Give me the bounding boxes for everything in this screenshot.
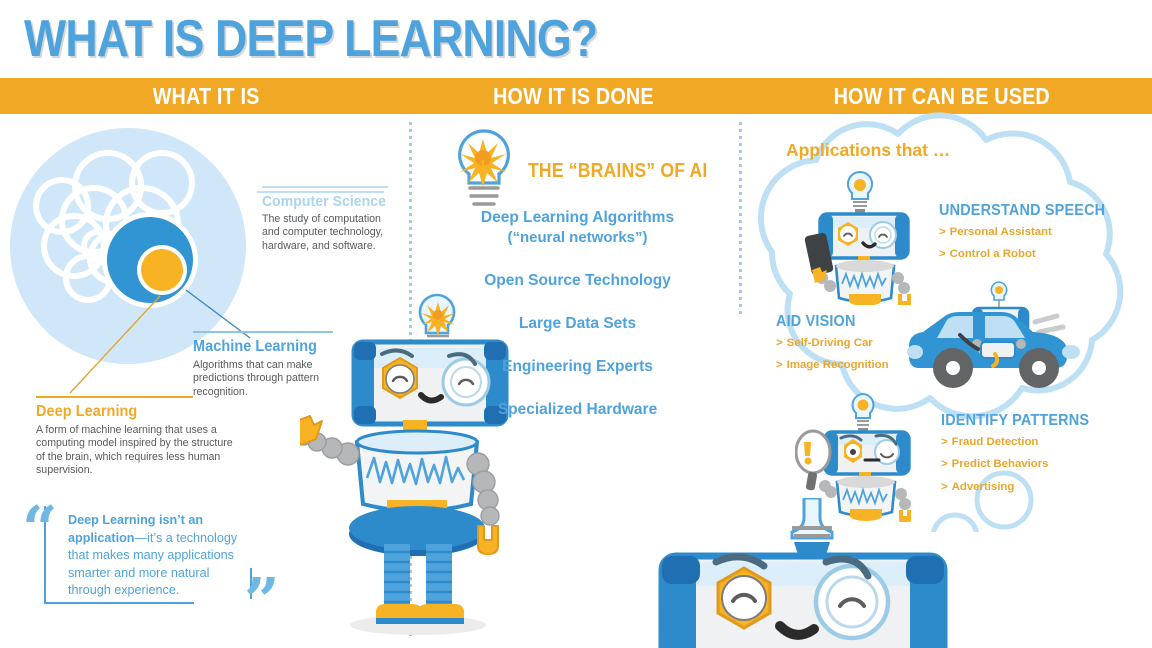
application-item: >Self-Driving Car (776, 338, 889, 349)
quote-frame-gap-top (46, 504, 252, 509)
robot-neck-bulb (792, 498, 832, 558)
callout-rule (262, 186, 388, 188)
application-item-label: Self-Driving Car (787, 337, 873, 349)
brains-list-item: Deep Learning Algorithms (“neural networ… (425, 208, 730, 248)
robot-left-arm (300, 416, 359, 465)
band-column-how-it-is-done: HOW IT IS DONE (408, 78, 738, 114)
application-group-identify-patterns: IDENTIFY PATTERNS >Fraud Detection >Pred… (941, 412, 1100, 504)
callout-body: A form of machine learning that uses a c… (36, 424, 236, 478)
band-column-how-it-can-be-used: HOW IT CAN BE USED (742, 78, 1142, 114)
band-column-label: HOW IT CAN BE USED (834, 78, 1050, 115)
application-item: >Image Recognition (776, 360, 889, 371)
application-item: >Control a Robot (939, 249, 1118, 260)
brains-list: Deep Learning Algorithms (“neural networ… (425, 208, 730, 443)
brains-item-sub: (“neural networks”) (425, 228, 730, 248)
application-group-aid-vision: AID VISION >Self-Driving Car >Image Reco… (776, 313, 889, 383)
bullet-arrow-icon: > (939, 226, 946, 238)
application-item-label: Fraud Detection (952, 436, 1039, 448)
application-group-title: AID VISION (776, 313, 881, 331)
bullet-arrow-icon: > (776, 359, 783, 371)
application-item-label: Advertising (952, 481, 1015, 493)
application-item-label: Personal Assistant (950, 226, 1052, 238)
brains-heading: THE “BRAINS” OF AI (528, 160, 708, 183)
bullet-arrow-icon: > (776, 337, 783, 349)
callout-body: The study of computation and computer te… (262, 213, 397, 253)
quote-text: Deep Learning isn’t an application—it’s … (68, 512, 254, 600)
application-group-title: IDENTIFY PATTERNS (941, 412, 1089, 430)
brains-list-item: Large Data Sets (425, 314, 730, 334)
robot-body (357, 431, 477, 511)
application-item-label: Control a Robot (950, 248, 1036, 260)
application-group-title: UNDERSTAND SPEECH (939, 202, 1105, 220)
band-column-label: HOW IT IS DONE (493, 78, 654, 115)
brains-lightbulb-icon (452, 128, 516, 210)
quote-open-mark: “ (22, 498, 58, 560)
callout-heading: Deep Learning (36, 403, 222, 421)
self-driving-car-illustration (905, 280, 1095, 390)
bottom-robot-head-illustration (644, 498, 974, 648)
application-item: >Fraud Detection (941, 437, 1100, 448)
callout-heading: Computer Science (262, 193, 388, 210)
robot-lightbulb-icon (853, 394, 874, 433)
infographic-canvas: WHAT IS DEEP LEARNING? WHAT IT IS HOW IT… (0, 0, 1152, 648)
brains-list-item: Engineering Experts (425, 357, 730, 377)
application-item: >Personal Assistant (939, 227, 1118, 238)
robot-lightbulb-icon (991, 282, 1006, 308)
application-item: >Predict Behaviors (941, 459, 1100, 470)
robot-head (662, 556, 944, 648)
bullet-arrow-icon: > (941, 436, 948, 448)
brains-list-item: Open Source Technology (425, 271, 730, 291)
robot-head (820, 214, 908, 258)
callout-computer-science: Computer Science The study of computatio… (262, 186, 397, 253)
applications-heading: Applications that … (786, 140, 950, 161)
brains-list-item: Specialized Hardware (425, 400, 730, 420)
callout-rule (36, 396, 193, 398)
application-item: >Advertising (941, 482, 1100, 493)
application-item-list: >Personal Assistant >Control a Robot (939, 227, 1118, 261)
brains-item-main: Deep Learning Algorithms (481, 209, 674, 226)
application-item-label: Predict Behaviors (952, 458, 1049, 470)
robot-legs (376, 544, 464, 624)
bullet-arrow-icon: > (941, 458, 948, 470)
callout-deep-learning: Deep Learning A form of machine learning… (36, 396, 236, 478)
bullet-arrow-icon: > (941, 481, 948, 493)
robot-lightbulb-icon (848, 172, 872, 215)
pull-quote: “ ” Deep Learning isn’t an application—i… (44, 506, 272, 614)
robot-head (825, 432, 909, 474)
application-group-understand-speech: UNDERSTAND SPEECH >Personal Assistant >C… (939, 202, 1118, 272)
application-item-list: >Fraud Detection >Predict Behaviors >Adv… (941, 437, 1100, 493)
application-item-list: >Self-Driving Car >Image Recognition (776, 338, 889, 372)
application-item-label: Image Recognition (787, 359, 889, 371)
bullet-arrow-icon: > (939, 248, 946, 260)
